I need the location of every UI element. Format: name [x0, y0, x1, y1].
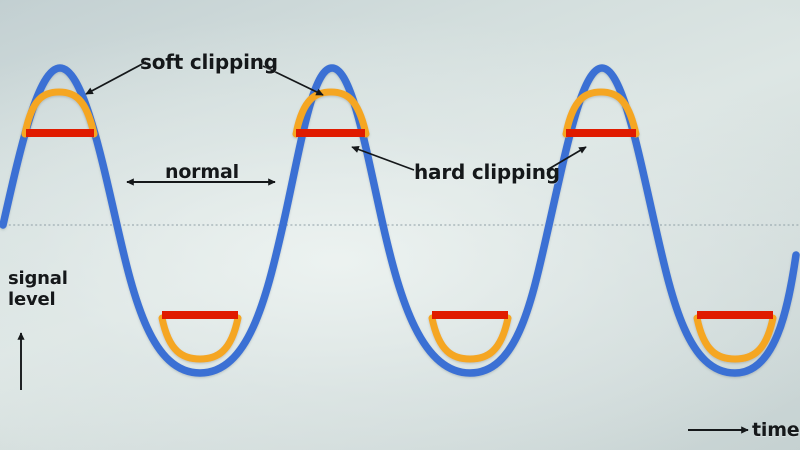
- hard-clipping-leader-left: [352, 147, 414, 170]
- clipping-diagram-figure: soft clipping hard clipping normal signa…: [0, 0, 800, 450]
- normal-label: normal: [165, 161, 239, 183]
- hard-clipping-label: hard clipping: [414, 160, 560, 184]
- time-axis-label: time: [752, 419, 799, 441]
- soft-clipping-label: soft clipping: [140, 50, 278, 74]
- annotation-layer: [0, 0, 800, 450]
- signal-level-axis-label: signal level: [8, 268, 68, 310]
- soft-clipping-leader-left: [86, 62, 146, 94]
